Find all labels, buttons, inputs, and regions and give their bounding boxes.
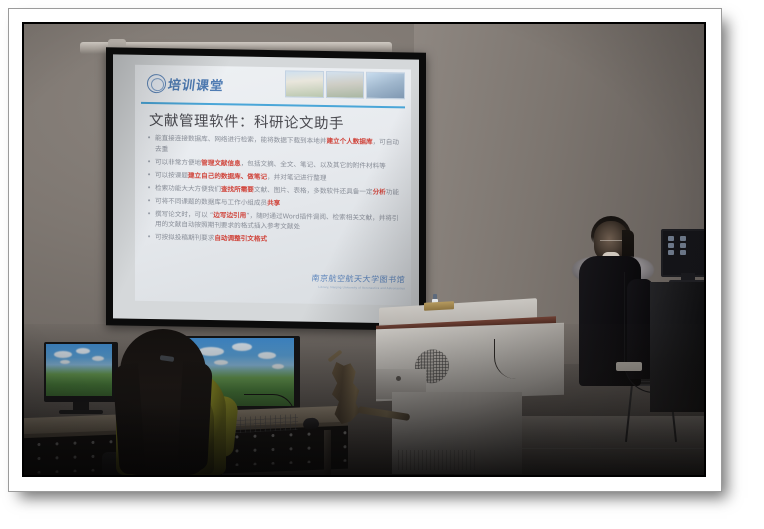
slide-bullet-text: 可以按课题建立自己的数据库、做笔记，并对笔记进行整理: [155, 170, 405, 185]
desktop-icon: [680, 250, 686, 255]
bullet-highlight: 查找所需要: [221, 185, 254, 194]
bullet-marker-icon: •: [147, 133, 155, 154]
footer-org-en: Library, Nanjing University of Aeronauti…: [285, 284, 405, 290]
bullet-highlight: 共享: [267, 199, 280, 207]
bullet-plain: 文献、图片、表格，多数软件还具备一定: [254, 185, 373, 195]
bullet-marker-icon: •: [147, 182, 155, 193]
photo-frame: 培训课堂 文献管理软件：科研论文助手 •能直接连接数据库、网络进行检索，能将数据…: [0, 0, 764, 529]
bullet-plain: 撰写论文时，可以 “: [155, 210, 213, 219]
bullet-marker-icon: •: [147, 232, 155, 243]
slide-bullet: •可按拟投稿期刊要求自动调整引文格式: [147, 232, 405, 247]
bullet-highlight: 分析: [373, 187, 386, 195]
bullet-plain: 可按拟投稿期刊要求: [155, 233, 214, 242]
slide-bullet-text: 能直接连接数据库、网络进行检索，能将数据下载到本地并建立个人数据库，可自动去重: [155, 133, 405, 158]
bullet-plain: ，并对笔记进行整理: [267, 173, 326, 182]
university-seal-icon: [147, 74, 166, 93]
bullet-plain: 功能: [386, 188, 399, 196]
desktop-icons: [668, 236, 689, 255]
projection-screen: 培训课堂 文献管理软件：科研论文助手 •能直接连接数据库、网络进行检索，能将数据…: [106, 47, 426, 331]
room-shadow: [24, 324, 704, 475]
slide-title: 文献管理软件：科研论文助手: [149, 109, 399, 134]
bullet-highlight: 自动调整引文格式: [214, 234, 267, 243]
slide-bullet: •能直接连接数据库、网络进行检索，能将数据下载到本地并建立个人数据库，可自动去重: [147, 133, 405, 159]
slide-header: 培训课堂: [135, 65, 411, 112]
desktop-icon: [680, 243, 686, 248]
slide-bullet-text: 撰写论文时，可以 “边写边引用”，随时通过Word插件调阅、检索相关文献，并将引…: [155, 209, 405, 234]
bullet-plain: 可以非常方便地: [155, 158, 201, 167]
bullet-marker-icon: •: [147, 156, 155, 167]
slide-bullet-list: •能直接连接数据库、网络进行检索，能将数据下载到本地并建立个人数据库，可自动去重…: [147, 133, 405, 250]
header-building-photos: [285, 70, 405, 99]
card-reader-icon: [424, 301, 454, 311]
slide-bullet-text: 可将不同课题的数据库与工作小组成员共享: [155, 196, 405, 211]
slide-bullet-text: 检索功能大大方便我们查找所需要文献、图片、表格，多数软件还具备一定分析功能: [155, 183, 405, 198]
slide-bullet: •撰写论文时，可以 “边写边引用”，随时通过Word插件调阅、检索相关文献，并将…: [147, 208, 405, 234]
slide-footer: 南京航空航天大学图书馆 Library, Nanjing University …: [285, 272, 405, 290]
slide-bullet-text: 可按拟投稿期刊要求自动调整引文格式: [155, 232, 405, 247]
bullet-plain: 可将不同课题的数据库与工作小组成员: [155, 197, 267, 207]
desktop-icon: [680, 236, 686, 241]
building-photo-3: [366, 72, 405, 100]
monitor-right-rear: [661, 229, 704, 277]
building-photo-1: [285, 70, 324, 98]
slide-logo-text: 培训课堂: [167, 74, 225, 94]
bullet-marker-icon: •: [147, 195, 155, 206]
monitor-right-rear-screen: [665, 233, 704, 269]
desktop-icon: [668, 243, 674, 248]
bullet-plain: 可以按课题: [155, 171, 188, 180]
desktop-icon: [668, 250, 674, 255]
slide-bullet-text: 可以非常方便地管理文献信息，包括文摘、全文、笔记、以及其它的附件材料等: [155, 157, 405, 172]
photograph: 培训课堂 文献管理软件：科研论文助手 •能直接连接数据库、网络进行检索，能将数据…: [22, 22, 706, 477]
desktop-icon: [668, 236, 674, 241]
bullet-highlight: 建立个人数据库: [326, 137, 372, 146]
bullet-plain: 检索功能大大方便我们: [155, 184, 221, 193]
bullet-highlight: 边写边引用: [213, 211, 246, 220]
building-photo-2: [326, 71, 365, 99]
bullet-marker-icon: •: [147, 169, 155, 180]
header-divider: [141, 102, 405, 108]
presenter-glasses-icon: [600, 240, 622, 245]
bullet-highlight: 管理文献信息: [201, 158, 241, 167]
bullet-plain: 能直接连接数据库、网络进行检索，能将数据下载到本地并: [155, 134, 326, 145]
bullet-plain: ，包括文摘、全文、笔记、以及其它的附件材料等: [241, 159, 386, 170]
footer-org-cn: 南京航空航天大学图书馆: [284, 272, 405, 285]
presentation-slide: 培训课堂 文献管理软件：科研论文助手 •能直接连接数据库、网络进行检索，能将数据…: [135, 65, 411, 306]
bullet-highlight: 建立自己的数据库、做笔记: [188, 171, 267, 180]
bullet-marker-icon: •: [147, 208, 155, 229]
